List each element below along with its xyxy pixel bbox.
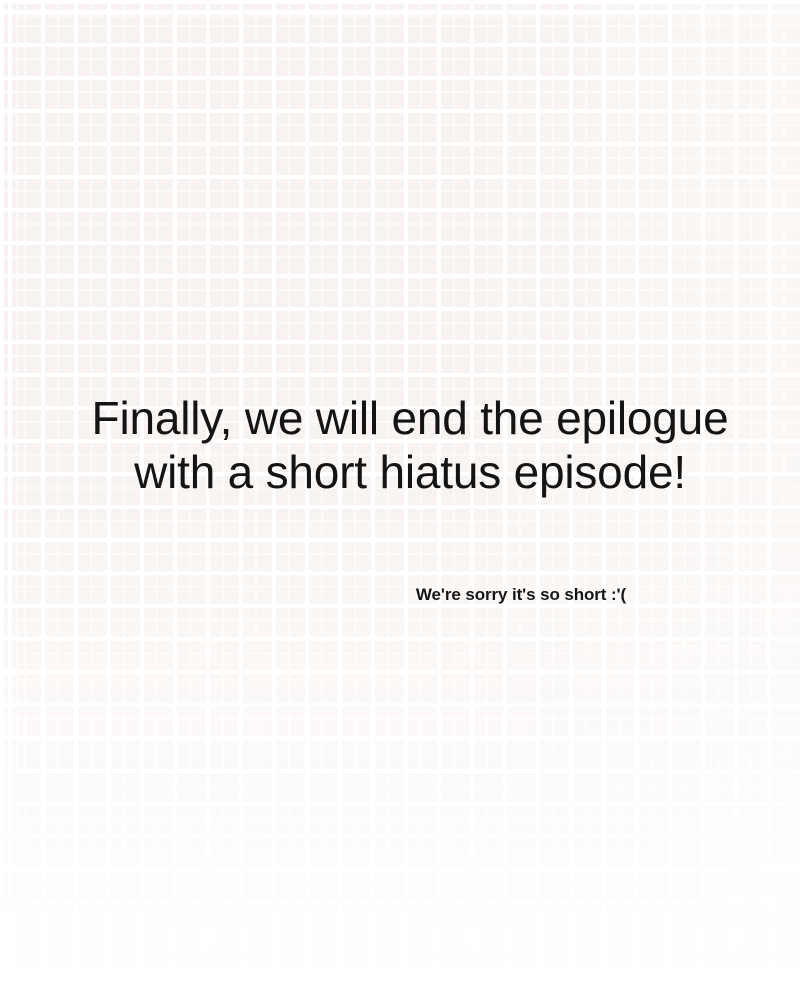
comic-panel: Finally, we will end the epilogue with a… xyxy=(0,0,800,1000)
headline-line-2: with a short hiatus episode! xyxy=(0,445,800,499)
apology-subtext: We're sorry it's so short :'( xyxy=(400,583,642,607)
headline-line-1: Finally, we will end the epilogue xyxy=(0,391,800,445)
panel-text-content: Finally, we will end the epilogue with a… xyxy=(0,0,800,1000)
